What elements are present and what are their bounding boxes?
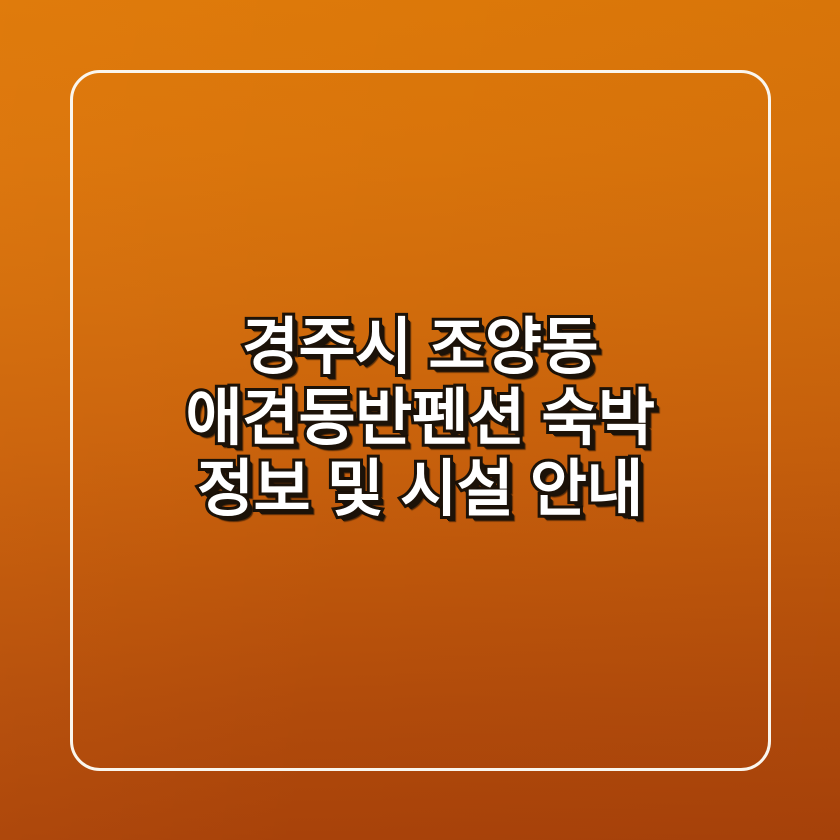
title-line-2: 애견동반펜션 숙박 <box>90 383 750 454</box>
title-line-1: 경주시 조양동 <box>90 312 750 383</box>
promo-card: 경주시 조양동 애견동반펜션 숙박 정보 및 시설 안내 <box>0 0 840 840</box>
title-block: 경주시 조양동 애견동반펜션 숙박 정보 및 시설 안내 <box>0 312 840 525</box>
title-line-3: 정보 및 시설 안내 <box>90 454 750 525</box>
